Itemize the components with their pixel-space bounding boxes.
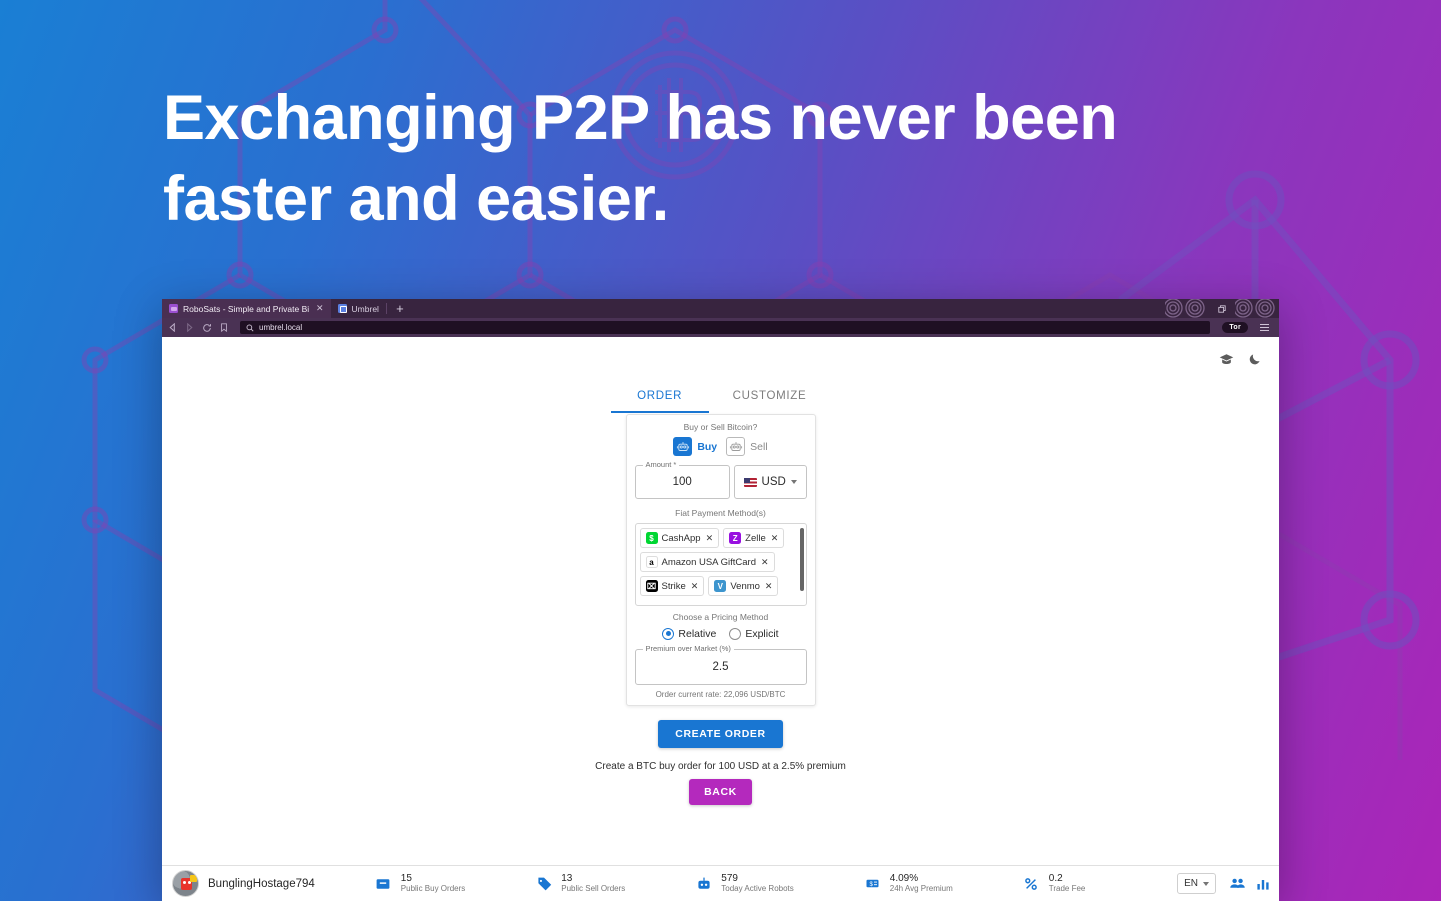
status-bar: BunglingHostage794 15 Public Buy Orders …	[162, 865, 1279, 901]
cashapp-icon: $	[646, 532, 658, 544]
search-icon	[246, 324, 254, 332]
browser-tab-robosats[interactable]: RoboSats - Simple and Private Bit ✕	[162, 299, 331, 318]
percent-icon	[1023, 875, 1040, 892]
stat-value: 579	[721, 873, 793, 885]
actions: CREATE ORDER Create a BTC buy order for …	[162, 720, 1279, 805]
payment-row: ⌧ Strike ✕ V Venmo ✕	[640, 576, 802, 596]
amazon-icon: a	[646, 556, 658, 568]
close-icon[interactable]: ✕	[316, 303, 324, 314]
language-select[interactable]: EN	[1177, 873, 1216, 894]
remove-icon[interactable]: ✕	[765, 581, 773, 592]
chip-label: Venmo	[730, 581, 760, 592]
pricing-option-explicit[interactable]: Explicit	[729, 628, 778, 640]
amount-value: 100	[673, 476, 692, 488]
chip-label: CashApp	[662, 533, 701, 544]
address-bar-value: umbrel.local	[259, 323, 302, 332]
robosats-page: ORDER CUSTOMIZE Buy or Sell Bitcoin? Buy	[162, 337, 1279, 901]
stat-value: 15	[401, 873, 465, 885]
back-icon[interactable]	[168, 323, 177, 332]
forward-icon[interactable]	[185, 323, 194, 332]
remove-icon[interactable]: ✕	[771, 533, 779, 544]
pricing-option-relative[interactable]: Relative	[662, 628, 716, 640]
sell-label: Sell	[750, 441, 768, 453]
chip-amazon-usa-giftcard[interactable]: a Amazon USA GiftCard ✕	[640, 552, 775, 572]
radio-icon	[662, 628, 674, 640]
chevron-down-icon	[791, 480, 797, 484]
premium-input[interactable]: Premium over Market (%) 2.5	[635, 649, 807, 685]
address-bar[interactable]: umbrel.local	[240, 321, 1210, 334]
browser-tabstrip: RoboSats - Simple and Private Bit ✕ Umbr…	[162, 299, 1279, 318]
stat-label: Today Active Robots	[721, 884, 793, 894]
amount-legend: Amount *	[643, 460, 680, 469]
tab-title: RoboSats - Simple and Private Bit	[183, 304, 309, 314]
payment-methods-box[interactable]: $ CashApp ✕ Z Zelle ✕ a Amazon USA GiftC…	[635, 523, 807, 606]
robot-icon	[695, 875, 712, 892]
buy-sell-label: Buy or Sell Bitcoin?	[635, 422, 807, 432]
money-icon: $	[864, 875, 881, 892]
stat-value: 4.09%	[890, 873, 953, 885]
graduation-cap-icon[interactable]	[1219, 352, 1234, 367]
chip-cashapp[interactable]: $ CashApp ✕	[640, 528, 720, 548]
pricing-method-label: Choose a Pricing Method	[635, 612, 807, 622]
currency-value: USD	[762, 476, 786, 488]
main-tabs: ORDER CUSTOMIZE	[162, 381, 1279, 413]
premium-value: 2.5	[713, 661, 729, 673]
venmo-icon: V	[714, 580, 726, 592]
tab-title: Umbrel	[352, 304, 379, 314]
bar-chart-icon[interactable]	[1255, 876, 1271, 892]
chip-label: Zelle	[745, 533, 766, 544]
back-button[interactable]: BACK	[689, 779, 752, 805]
buy-option[interactable]: Buy	[673, 437, 717, 456]
currency-select[interactable]: USD	[734, 465, 807, 499]
restore-window-button[interactable]	[1209, 299, 1235, 318]
stat-public-sell-orders: 13 Public Sell Orders	[535, 873, 625, 894]
payment-row: $ CashApp ✕ Z Zelle ✕	[640, 528, 802, 548]
tag-icon	[535, 875, 552, 892]
reload-icon[interactable]	[202, 323, 212, 333]
sell-option[interactable]: Sell	[726, 437, 768, 456]
remove-icon[interactable]: ✕	[706, 533, 714, 544]
tor-badge[interactable]: Tor	[1222, 322, 1248, 333]
people-icon[interactable]	[1229, 875, 1246, 892]
inbox-icon	[375, 875, 392, 892]
headline-line-2: faster and easier.	[163, 159, 1163, 240]
chip-venmo[interactable]: V Venmo ✕	[708, 576, 778, 596]
menu-icon[interactable]	[1256, 324, 1273, 331]
order-summary-text: Create a BTC buy order for 100 USD at a …	[162, 761, 1279, 772]
strike-icon: ⌧	[646, 580, 658, 592]
payment-methods-scrollbar[interactable]	[800, 528, 804, 591]
tab-customize[interactable]: CUSTOMIZE	[709, 381, 831, 413]
buy-robot-icon	[673, 437, 692, 456]
chip-zelle[interactable]: Z Zelle ✕	[723, 528, 784, 548]
payment-methods-label: Fiat Payment Method(s)	[635, 508, 807, 518]
umbrel-favicon-icon	[338, 304, 347, 313]
tab-order[interactable]: ORDER	[611, 381, 709, 413]
sell-robot-icon	[726, 437, 745, 456]
pricing-method-radios: Relative Explicit	[635, 628, 807, 640]
zelle-icon: Z	[729, 532, 741, 544]
new-tab-button[interactable]: +	[387, 299, 413, 318]
browser-window: RoboSats - Simple and Private Bit ✕ Umbr…	[162, 299, 1279, 901]
stat-label: Public Buy Orders	[401, 884, 465, 894]
amount-currency-row: Amount * 100 USD	[635, 465, 807, 499]
stat-label: Public Sell Orders	[561, 884, 625, 894]
nickname: BunglingHostage794	[208, 878, 315, 890]
remove-icon[interactable]: ✕	[761, 557, 769, 568]
browser-navbar: umbrel.local Tor	[162, 318, 1279, 337]
stat-24h-avg-premium: $ 4.09% 24h Avg Premium	[864, 873, 953, 894]
premium-legend: Premium over Market (%)	[643, 644, 734, 653]
stat-public-buy-orders: 15 Public Buy Orders	[375, 873, 465, 894]
chevron-down-icon	[1203, 882, 1209, 886]
payment-row: a Amazon USA GiftCard ✕	[640, 552, 802, 572]
hero-headline: Exchanging P2P has never been faster and…	[163, 78, 1163, 241]
stat-label: 24h Avg Premium	[890, 884, 953, 894]
robot-avatar[interactable]	[172, 870, 199, 897]
radio-label: Relative	[678, 628, 716, 640]
chip-strike[interactable]: ⌧ Strike ✕	[640, 576, 705, 596]
create-order-button[interactable]: CREATE ORDER	[658, 720, 782, 748]
stat-value: 0.2	[1049, 873, 1086, 885]
robosats-favicon-icon	[169, 304, 178, 313]
tabstrip-spacer	[413, 299, 1165, 318]
current-rate-note: Order current rate: 22,096 USD/BTC	[635, 690, 807, 699]
us-flag-icon	[744, 478, 757, 487]
buy-sell-toggle: Buy Sell	[635, 437, 807, 456]
stat-value: 13	[561, 873, 625, 885]
remove-icon[interactable]: ✕	[691, 581, 699, 592]
window-decoration	[1165, 299, 1279, 318]
moon-icon[interactable]	[1248, 352, 1262, 366]
headline-line-1: Exchanging P2P has never been	[163, 78, 1163, 159]
chip-label: Amazon USA GiftCard	[662, 557, 757, 568]
stat-today-active-robots: 579 Today Active Robots	[695, 873, 793, 894]
browser-tab-umbrel[interactable]: Umbrel	[331, 299, 386, 318]
page-header	[162, 337, 1279, 369]
order-form-card: Buy or Sell Bitcoin? Buy	[626, 414, 816, 706]
radio-label: Explicit	[745, 628, 778, 640]
bookmark-icon[interactable]	[220, 323, 228, 332]
chip-label: Strike	[662, 581, 686, 592]
amount-input[interactable]: Amount * 100	[635, 465, 730, 499]
radio-icon	[729, 628, 741, 640]
stat-trade-fee: 0.2 Trade Fee	[1023, 873, 1086, 894]
stat-label: Trade Fee	[1049, 884, 1086, 894]
buy-label: Buy	[697, 441, 717, 453]
language-value: EN	[1184, 878, 1198, 889]
rings-pattern-icon	[1235, 299, 1279, 318]
rings-pattern-icon	[1165, 299, 1209, 318]
